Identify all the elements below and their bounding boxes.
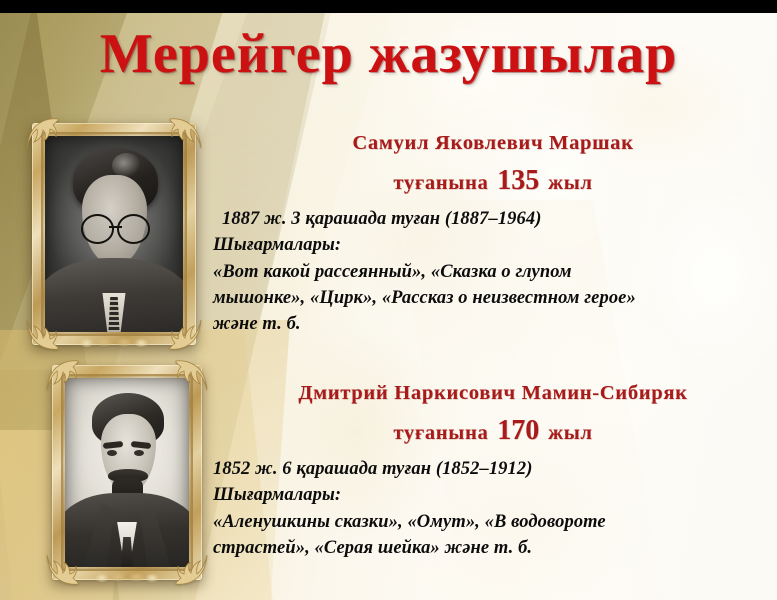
anniversary-number: 170 [494,415,542,446]
works-line: «Аленушкины сказки», «Омут», «В водоворо… [213,509,773,535]
lens-bridge [109,226,121,228]
works-line: «Вот какой рассеянный», «Сказка о глупом [213,259,773,285]
portrait-photo-marshak [45,136,183,332]
eyeglasses-icon [81,214,150,239]
presentation-slide: Мерейгер жазушылар [0,0,777,600]
portrait-frame-marshak [32,123,196,345]
birth-line: 1852 ж. 6 қарашада туған (1852–1912) [213,456,773,482]
birth-line: 1887 ж. 3 қарашада туған (1887–1964) [213,206,773,232]
anniversary-suffix: жыл [548,172,592,194]
writer-details: 1852 ж. 6 қарашада туған (1852–1912) Шығ… [213,456,773,561]
anniversary-number: 135 [494,165,542,196]
lens-right [117,214,150,243]
portrait-photo-mamin-sibiryak [65,378,189,567]
works-line: страстей», «Серая шейка» және т. б. [213,535,773,561]
anniversary-prefix: туғанына [393,172,488,194]
works-line: және т. б. [213,311,773,337]
portrait-frame-mamin-sibiryak [52,365,202,580]
anniversary-line: туғанына 135 жыл [213,165,773,197]
writer-block-marshak: Самуил Яковлевич Маршак туғанына 135 жыл… [213,131,773,338]
anniversary-line: туғанына 170 жыл [213,415,773,447]
portrait-eye-left [107,450,117,456]
works-label: Шығармалары: [213,232,773,258]
lens-left [81,214,114,243]
works-label: Шығармалары: [213,482,773,508]
works-line: мышонке», «Цирк», «Рассказ о неизвестном… [213,285,773,311]
top-black-bar [0,0,777,13]
page-title: Мерейгер жазушылар [0,22,777,86]
writer-block-mamin-sibiryak: Дмитрий Наркисович Мамин-Сибиряк туғанын… [213,381,773,561]
anniversary-prefix: туғанына [393,422,488,444]
writer-details: 1887 ж. 3 қарашада туған (1887–1964) Шығ… [213,206,773,337]
anniversary-suffix: жыл [548,422,592,444]
writer-name: Самуил Яковлевич Маршак [213,131,773,155]
writer-name: Дмитрий Наркисович Мамин-Сибиряк [213,381,773,405]
